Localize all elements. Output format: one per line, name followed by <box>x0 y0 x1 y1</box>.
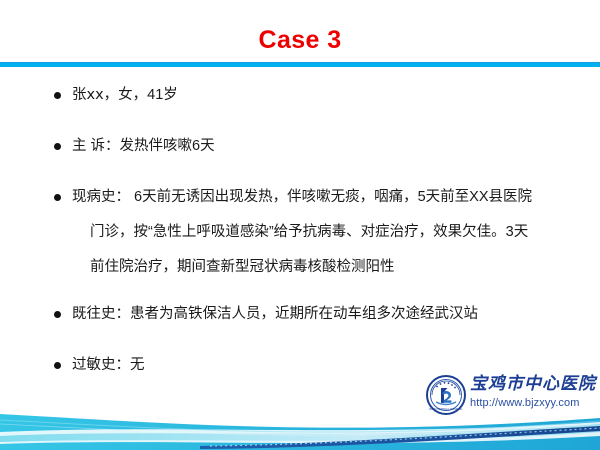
list-item-line: 主 诉：发热伴咳嗽6天 <box>72 129 590 164</box>
list-item: 既往史：患者为高铁保洁人员，近期所在动车组多次途经武汉站 <box>50 297 590 332</box>
list-item-line: 前住院治疗，期间查新型冠状病毒核酸检测阳性 <box>72 250 590 285</box>
list-item-line: 门诊，按“急性上呼吸道感染”给予抗病毒、对症治疗，效果欠佳。3天 <box>72 215 590 250</box>
hospital-name: 宝鸡市中心医院 <box>470 373 600 395</box>
list-item-line: 既往史：患者为高铁保洁人员，近期所在动车组多次途经武汉站 <box>72 297 590 332</box>
list-item: 主 诉：发热伴咳嗽6天 <box>50 129 590 164</box>
page-title: Case 3 <box>0 24 600 56</box>
bullet-dot-icon <box>54 92 61 99</box>
footer-wave-decoration <box>0 402 600 450</box>
list-item-line: 张ⅹⅹ，女，41岁 <box>72 78 590 113</box>
bullet-dot-icon <box>54 311 61 318</box>
bullet-dot-icon <box>54 362 61 369</box>
content-list: 张ⅹⅹ，女，41岁 主 诉：发热伴咳嗽6天 现病史： 6天前无诱因出现发热，伴咳… <box>50 78 590 399</box>
bullet-dot-icon <box>54 194 61 201</box>
list-item: 张ⅹⅹ，女，41岁 <box>50 78 590 113</box>
title-divider-bar <box>0 63 600 67</box>
bullet-dot-icon <box>54 143 61 150</box>
list-item-line: 现病史： 6天前无诱因出现发热，伴咳嗽无痰，咽痛，5天前至XX县医院 <box>72 180 590 215</box>
title-divider <box>0 62 600 67</box>
list-item: 现病史： 6天前无诱因出现发热，伴咳嗽无痰，咽痛，5天前至XX县医院 门诊，按“… <box>50 180 590 285</box>
